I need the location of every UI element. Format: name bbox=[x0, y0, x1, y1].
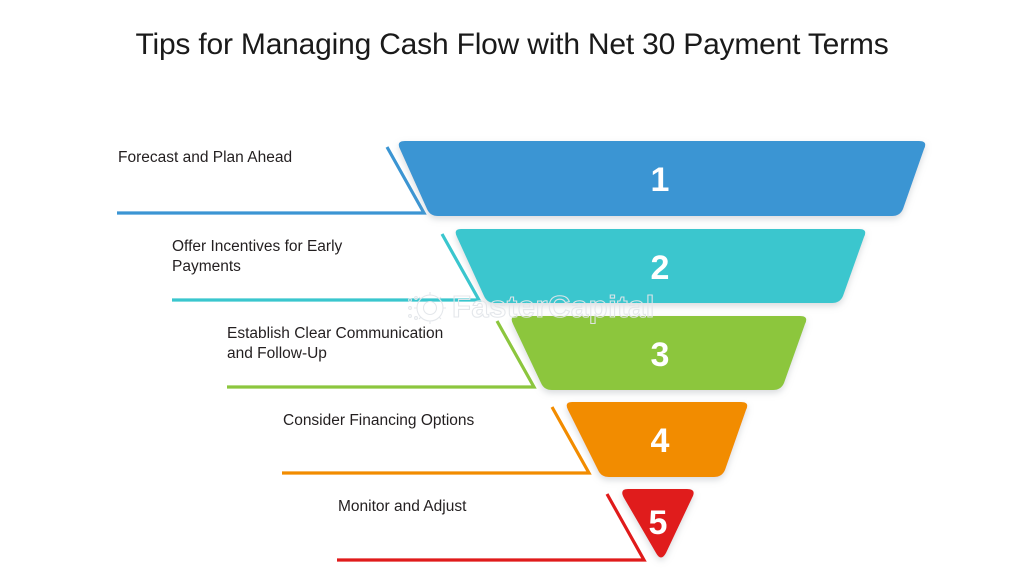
funnel-number-2: 2 bbox=[651, 249, 670, 287]
funnel-number-1: 1 bbox=[651, 161, 670, 199]
funnel-number-5: 5 bbox=[649, 504, 668, 542]
step-label-4: Consider Financing Options bbox=[283, 411, 474, 431]
funnel-segment-3[interactable]: 3 bbox=[512, 316, 807, 390]
funnel-number-4: 4 bbox=[651, 422, 670, 460]
funnel-number-3: 3 bbox=[651, 336, 670, 374]
funnel-infographic: 1 2 3 4 5 bbox=[0, 0, 1024, 583]
watermark: FasterCapital bbox=[409, 289, 655, 324]
funnel-segment-1[interactable]: 1 bbox=[399, 141, 925, 216]
step-label-1: Forecast and Plan Ahead bbox=[118, 148, 292, 168]
step-label-5: Monitor and Adjust bbox=[338, 497, 466, 517]
step-label-3: Establish Clear Communication and Follow… bbox=[227, 324, 443, 364]
funnel-segment-4[interactable]: 4 bbox=[567, 402, 748, 477]
funnel-segments: 1 2 3 4 5 bbox=[399, 141, 925, 558]
step-label-2: Offer Incentives for Early Payments bbox=[172, 237, 342, 277]
watermark-label: FasterCapital bbox=[452, 289, 655, 324]
funnel-segment-5[interactable]: 5 bbox=[622, 489, 693, 558]
gear-circuit-icon bbox=[409, 292, 446, 324]
